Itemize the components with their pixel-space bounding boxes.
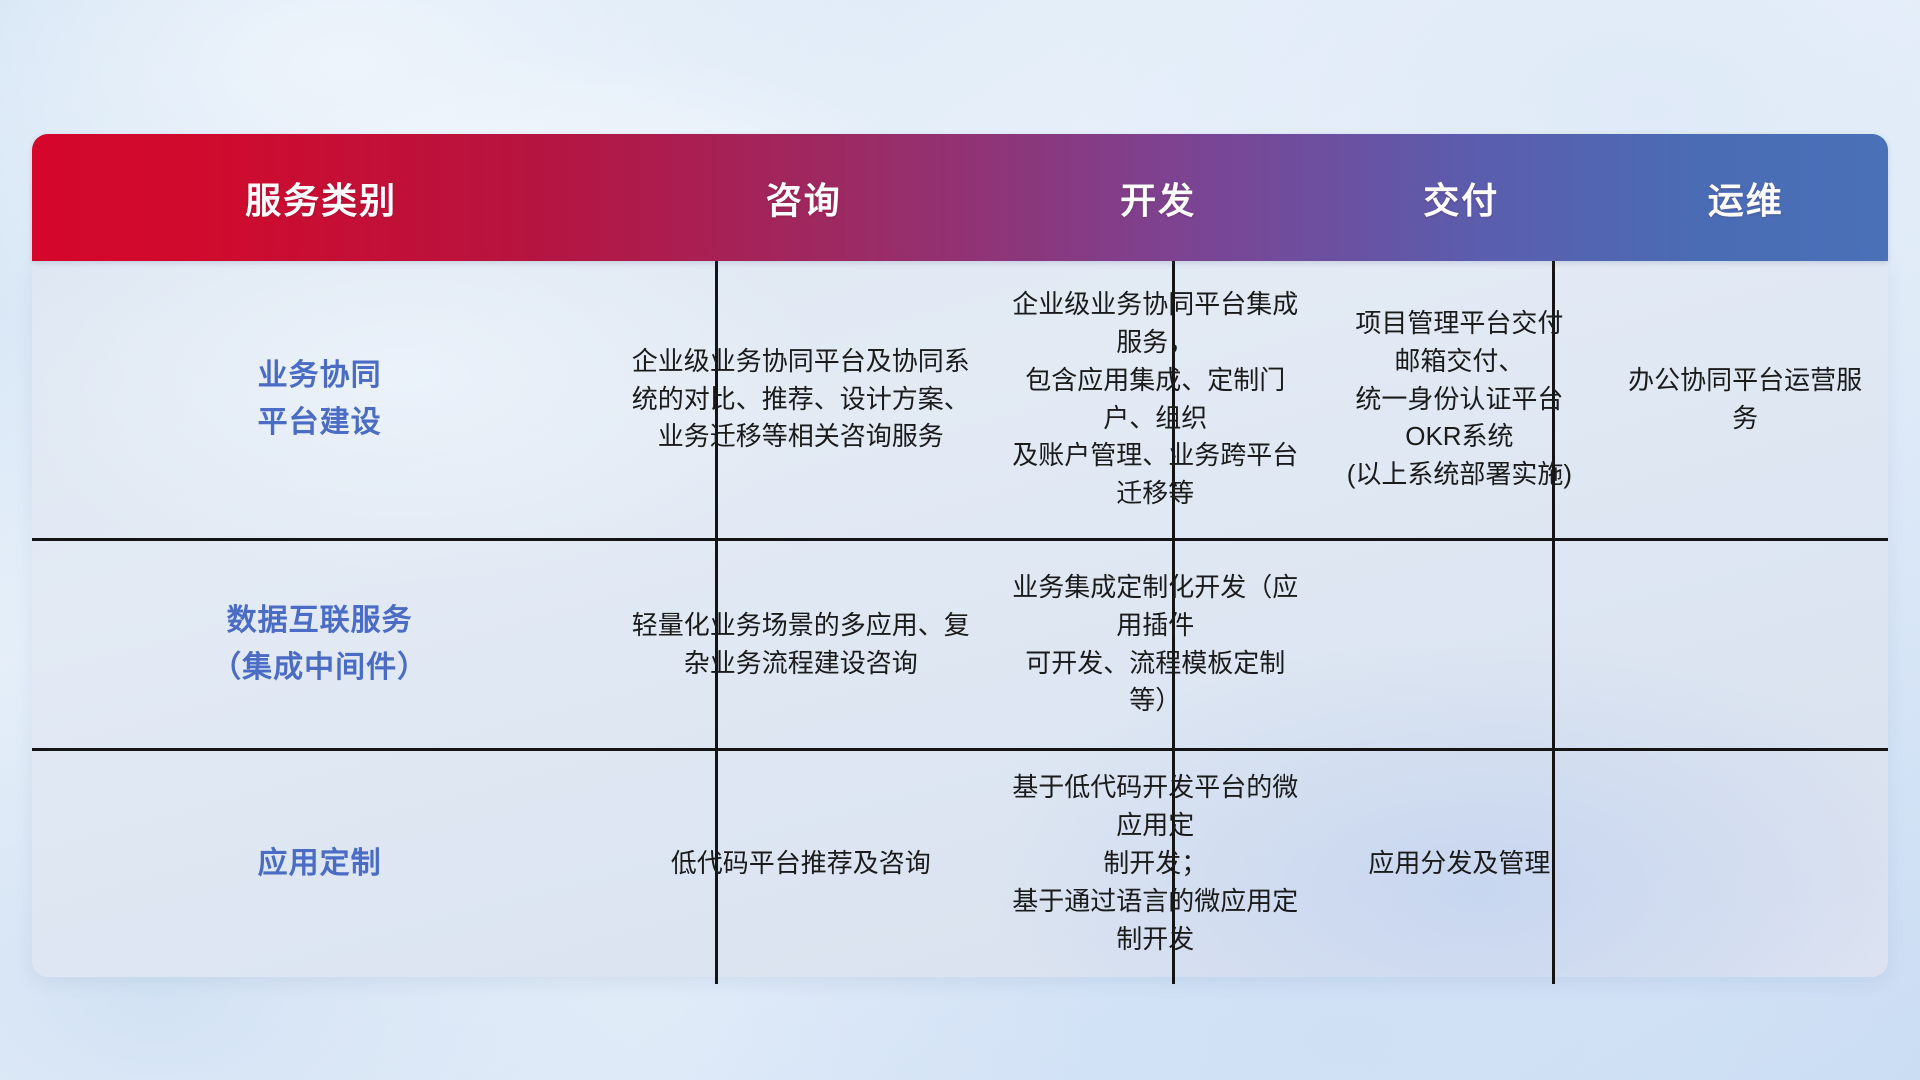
column-header-operations: 运维 xyxy=(1604,134,1889,261)
cell-r3-consulting: 低代码平台推荐及咨询 xyxy=(607,751,994,977)
cell-r1-operations: 办公协同平台运营服务 xyxy=(1602,261,1888,538)
row-category-2: 数据互联服务 （集成中间件） xyxy=(32,541,607,748)
table-row: 数据互联服务 （集成中间件） 轻量化业务场景的多应用、复 杂业务流程建设咨询 业… xyxy=(32,541,1888,751)
column-header-category-label: 服务类别 xyxy=(245,172,397,224)
cell-r3-delivery: 应用分发及管理 xyxy=(1317,751,1603,977)
column-header-delivery: 交付 xyxy=(1319,134,1604,261)
table-header-row: 服务类别 咨询 开发 交付 运维 xyxy=(32,134,1888,261)
cell-r1-consulting: 企业级业务协同平台及协同系 统的对比、推荐、设计方案、 业务迁移等相关咨询服务 xyxy=(607,261,994,538)
column-header-development-label: 开发 xyxy=(1120,172,1196,224)
table-row: 业务协同 平台建设 企业级业务协同平台及协同系 统的对比、推荐、设计方案、 业务… xyxy=(32,261,1888,541)
cell-r3-operations xyxy=(1602,751,1888,977)
column-header-operations-label: 运维 xyxy=(1708,172,1784,224)
table-row: 应用定制 低代码平台推荐及咨询 基于低代码开发平台的微应用定 制开发； 基于通过… xyxy=(32,751,1888,977)
cell-r2-operations xyxy=(1602,541,1888,748)
column-header-development: 开发 xyxy=(997,134,1319,261)
column-header-consulting-label: 咨询 xyxy=(766,172,842,224)
cell-r3-development: 基于低代码开发平台的微应用定 制开发； 基于通过语言的微应用定制开发 xyxy=(994,751,1316,977)
column-header-category: 服务类别 xyxy=(32,134,610,261)
row-category-3: 应用定制 xyxy=(32,751,607,977)
column-header-delivery-label: 交付 xyxy=(1423,172,1499,224)
cell-r2-delivery xyxy=(1317,541,1603,748)
row-category-1: 业务协同 平台建设 xyxy=(32,261,607,538)
service-matrix-table: 服务类别 咨询 开发 交付 运维 业务协同 平台建设 企业级业务协同平台及协同系… xyxy=(32,134,1888,977)
cell-r2-consulting: 轻量化业务场景的多应用、复 杂业务流程建设咨询 xyxy=(607,541,994,748)
cell-r1-delivery: 项目管理平台交付 邮箱交付、 统一身份认证平台 OKR系统 (以上系统部署实施) xyxy=(1317,261,1603,538)
column-header-consulting: 咨询 xyxy=(610,134,997,261)
cell-r1-development: 企业级业务协同平台集成服务， 包含应用集成、定制门户、组织 及账户管理、业务跨平… xyxy=(994,261,1316,538)
cell-r2-development: 业务集成定制化开发（应用插件 可开发、流程模板定制等） xyxy=(994,541,1316,748)
table-body: 业务协同 平台建设 企业级业务协同平台及协同系 统的对比、推荐、设计方案、 业务… xyxy=(32,261,1888,977)
